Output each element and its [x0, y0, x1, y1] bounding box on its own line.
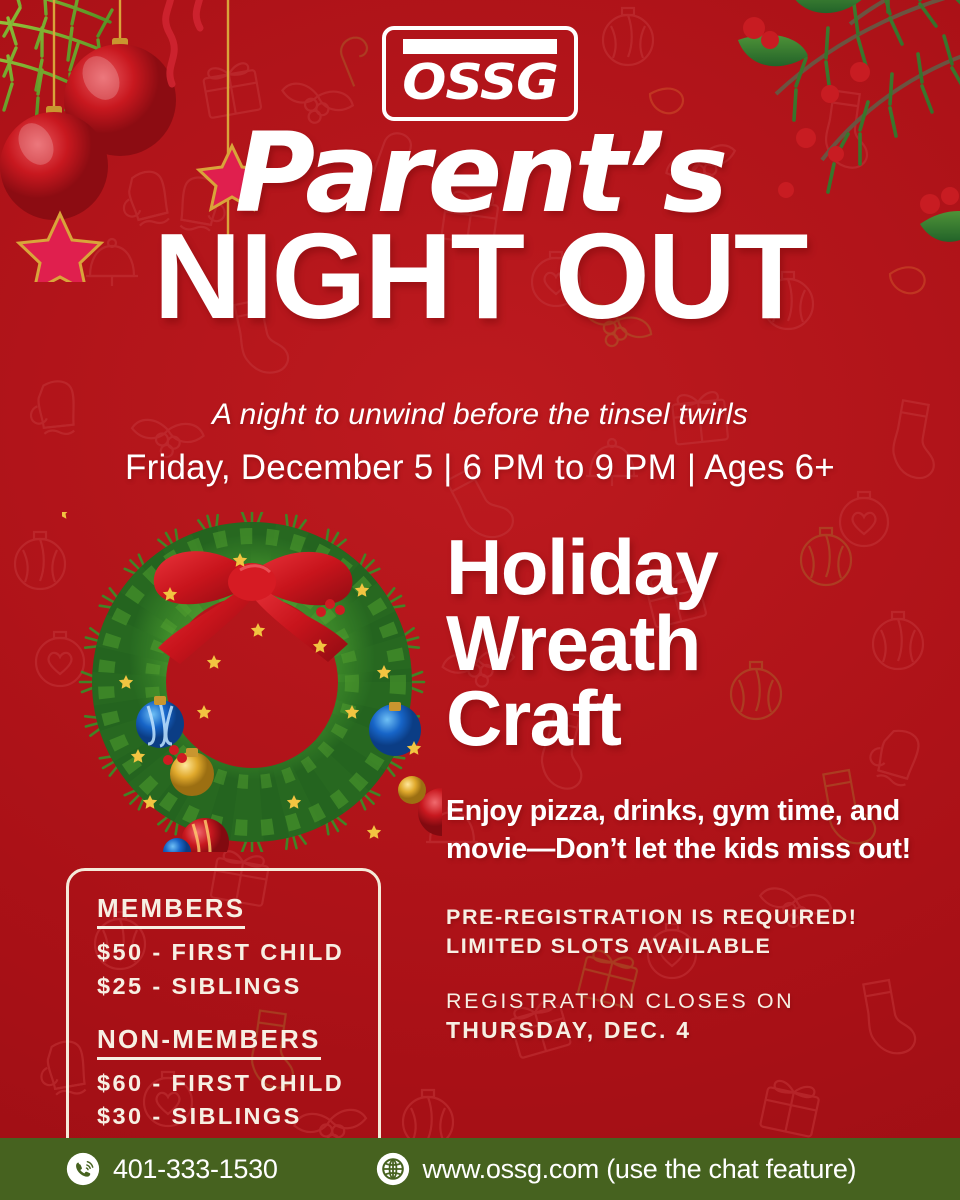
tagline: A night to unwind before the tinsel twir… [0, 398, 960, 432]
members-price-1: $50 - FIRST CHILD [97, 936, 378, 970]
pricing-spacer [97, 1004, 378, 1024]
activity-description: Enjoy pizza, drinks, gym time, and movie… [446, 793, 916, 869]
page-title: Parent’s NIGHT OUT [0, 118, 960, 332]
activity-title-line3: Craft [446, 681, 916, 757]
members-price-2: $25 - SIBLINGS [97, 970, 378, 1004]
headline-line2: NIGHT OUT [0, 220, 960, 332]
logo-bar [403, 39, 557, 54]
activity-title: Holiday Wreath Craft [446, 530, 916, 757]
pricing-box: MEMBERS $50 - FIRST CHILD $25 - SIBLINGS… [66, 868, 381, 1161]
prereg-notice: PRE-REGISTRATION IS REQUIRED! LIMITED SL… [446, 903, 916, 961]
nonmembers-price-2: $30 - SIBLINGS [97, 1100, 378, 1134]
logo-frame: OSSG [382, 26, 578, 121]
contact-footer: 401-333-1530 www.ossg.com (use the chat … [0, 1138, 960, 1200]
holiday-wreath-graphic [62, 512, 442, 852]
nonmembers-heading: NON-MEMBERS [97, 1024, 321, 1060]
prereg-line1: PRE-REGISTRATION IS REQUIRED! [446, 903, 916, 932]
ossg-logo: OSSG [382, 26, 578, 121]
activity-title-line2: Wreath [446, 606, 916, 682]
members-heading: MEMBERS [97, 893, 245, 929]
registration-closes-date: THURSDAY, DEC. 4 [446, 1016, 916, 1046]
phone-contact[interactable]: 401-333-1530 [66, 1152, 278, 1186]
flyer-canvas: OSSG Parent’s NIGHT OUT A night to unwin… [0, 0, 960, 1200]
phone-number: 401-333-1530 [113, 1154, 278, 1185]
website-url: www.ossg.com (use the chat feature) [423, 1154, 857, 1185]
activity-panel: Holiday Wreath Craft Enjoy pizza, drinks… [446, 530, 916, 1046]
website-contact[interactable]: www.ossg.com (use the chat feature) [376, 1152, 857, 1186]
nonmembers-price-1: $60 - FIRST CHILD [97, 1067, 378, 1101]
globe-icon [376, 1152, 410, 1186]
registration-closes-label: REGISTRATION CLOSES ON [446, 988, 916, 1016]
phone-icon [66, 1152, 100, 1186]
event-dateline: Friday, December 5 | 6 PM to 9 PM | Ages… [0, 448, 960, 488]
activity-title-line1: Holiday [446, 530, 916, 606]
logo-text: OSSG [398, 60, 561, 106]
prereg-line2: LIMITED SLOTS AVAILABLE [446, 932, 916, 961]
